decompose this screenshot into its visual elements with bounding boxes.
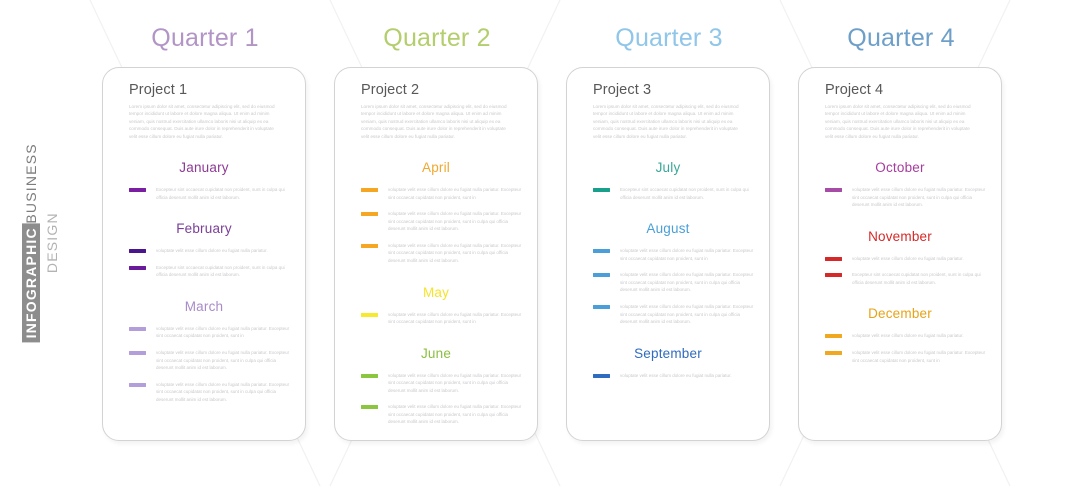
bullet-text: voluptate velit esse cillum dolore eu fu… — [388, 372, 525, 395]
bullet-text: voluptate velit esse cillum dolore eu fu… — [388, 242, 525, 265]
spacer — [361, 274, 525, 285]
month-list: Octobervoluptate velit esse cillum dolor… — [799, 140, 1001, 364]
bullet-text: voluptate velit esse cillum dolore eu fu… — [852, 349, 989, 364]
month-block-august: Augustvoluptate velit esse cillum dolore… — [593, 221, 757, 325]
bullet-dash-icon — [593, 249, 610, 253]
month-block-december: Decembervoluptate velit esse cillum dolo… — [825, 306, 989, 364]
quarter-column-1: Quarter 1Project 1Lorem ipsum dolor sit … — [102, 0, 308, 486]
bullet-text: Excepteur sint occaecat cupidatat non pr… — [156, 186, 293, 201]
month-block-november: Novembervoluptate velit esse cillum dolo… — [825, 229, 989, 287]
spacer — [593, 335, 757, 346]
month-block-october: Octobervoluptate velit esse cillum dolor… — [825, 160, 989, 209]
month-name-september: September — [593, 346, 757, 361]
bullet-text: voluptate velit esse cillum dolore eu fu… — [852, 186, 989, 209]
quarter-column-3: Quarter 3Project 3Lorem ipsum dolor sit … — [566, 0, 772, 486]
bullet-dash-icon — [129, 266, 146, 270]
bullet-row: voluptate velit esse cillum dolore eu fu… — [361, 210, 525, 233]
bullet-dash-icon — [825, 257, 842, 261]
bullet-dash-icon — [825, 273, 842, 277]
bullet-row: voluptate velit esse cillum dolore eu fu… — [129, 247, 293, 255]
bullet-text: voluptate velit esse cillum dolore eu fu… — [156, 247, 293, 255]
bullet-row: voluptate velit esse cillum dolore eu fu… — [361, 403, 525, 426]
bullet-row: voluptate velit esse cillum dolore eu fu… — [825, 186, 989, 209]
bullet-dash-icon — [361, 212, 378, 216]
bullet-row: voluptate velit esse cillum dolore eu fu… — [361, 242, 525, 265]
side-label-infographic: INFOGRAPHIC — [22, 224, 40, 343]
month-block-february: Februaryvoluptate velit esse cillum dolo… — [129, 221, 293, 279]
bullet-row: Excepteur sint occaecat cupidatat non pr… — [129, 186, 293, 201]
month-block-may: Mayvoluptate velit esse cillum dolore eu… — [361, 285, 525, 326]
quarter-title-3: Quarter 3 — [566, 24, 772, 53]
bullet-text: voluptate velit esse cillum dolore eu fu… — [156, 381, 293, 404]
bullet-row: voluptate velit esse cillum dolore eu fu… — [825, 332, 989, 340]
quarter-title-2: Quarter 2 — [334, 24, 540, 53]
bullet-dash-icon — [593, 273, 610, 277]
spacer — [825, 295, 989, 306]
month-block-june: Junevoluptate velit esse cillum dolore e… — [361, 346, 525, 426]
spacer — [129, 210, 293, 221]
project-card-1[interactable]: Project 1Lorem ipsum dolor sit amet, con… — [102, 67, 306, 441]
month-name-november: November — [825, 229, 989, 244]
month-block-april: Aprilvoluptate velit esse cillum dolore … — [361, 160, 525, 264]
month-name-march: March — [129, 299, 293, 314]
bullet-text: Excepteur sint occaecat cupidatat non pr… — [156, 264, 293, 279]
bullet-row: voluptate velit esse cillum dolore eu fu… — [593, 372, 757, 380]
month-name-june: June — [361, 346, 525, 361]
bullet-dash-icon — [361, 405, 378, 409]
month-name-august: August — [593, 221, 757, 236]
side-label-design: DESIGN — [44, 213, 60, 274]
project-card-4[interactable]: Project 4Lorem ipsum dolor sit amet, con… — [798, 67, 1002, 441]
month-list: Aprilvoluptate velit esse cillum dolore … — [335, 140, 537, 426]
month-name-january: January — [129, 160, 293, 175]
month-name-may: May — [361, 285, 525, 300]
bullet-dash-icon — [593, 305, 610, 309]
bullet-text: voluptate velit esse cillum dolore eu fu… — [620, 271, 757, 294]
month-name-february: February — [129, 221, 293, 236]
project-header: Project 3Lorem ipsum dolor sit amet, con… — [567, 68, 769, 140]
project-title-2: Project 2 — [361, 82, 521, 98]
spacer — [593, 140, 757, 160]
bullet-row: Excepteur sint occaecat cupidatat non pr… — [825, 271, 989, 286]
project-card-3[interactable]: Project 3Lorem ipsum dolor sit amet, con… — [566, 67, 770, 441]
bullet-row: voluptate velit esse cillum dolore eu fu… — [361, 311, 525, 326]
month-block-march: Marchvoluptate velit esse cillum dolore … — [129, 299, 293, 403]
bullet-dash-icon — [361, 188, 378, 192]
bullet-row: voluptate velit esse cillum dolore eu fu… — [593, 247, 757, 262]
month-name-october: October — [825, 160, 989, 175]
project-header: Project 1Lorem ipsum dolor sit amet, con… — [103, 68, 305, 140]
project-card-2[interactable]: Project 2Lorem ipsum dolor sit amet, con… — [334, 67, 538, 441]
bullet-dash-icon — [593, 188, 610, 192]
quarter-columns: Quarter 1Project 1Lorem ipsum dolor sit … — [102, 0, 1032, 486]
bullet-row: voluptate velit esse cillum dolore eu fu… — [593, 271, 757, 294]
bullet-row: voluptate velit esse cillum dolore eu fu… — [361, 372, 525, 395]
spacer — [361, 140, 525, 160]
bullet-row: voluptate velit esse cillum dolore eu fu… — [361, 186, 525, 201]
bullet-dash-icon — [361, 244, 378, 248]
bullet-text: voluptate velit esse cillum dolore eu fu… — [852, 255, 989, 263]
bullet-dash-icon — [825, 351, 842, 355]
bullet-text: voluptate velit esse cillum dolore eu fu… — [388, 311, 525, 326]
bullet-dash-icon — [361, 374, 378, 378]
bullet-row: Excepteur sint occaecat cupidatat non pr… — [129, 264, 293, 279]
spacer — [129, 140, 293, 160]
project-title-3: Project 3 — [593, 82, 753, 98]
bullet-text: voluptate velit esse cillum dolore eu fu… — [156, 325, 293, 340]
spacer — [825, 218, 989, 229]
quarter-column-2: Quarter 2Project 2Lorem ipsum dolor sit … — [334, 0, 540, 486]
side-label-business: BUSINESS — [23, 143, 39, 223]
spacer — [361, 335, 525, 346]
spacer — [593, 210, 757, 221]
month-name-december: December — [825, 306, 989, 321]
month-list: JanuaryExcepteur sint occaecat cupidatat… — [103, 140, 305, 403]
bullet-text: Excepteur sint occaecat cupidatat non pr… — [852, 271, 989, 286]
bullet-row: voluptate velit esse cillum dolore eu fu… — [129, 381, 293, 404]
month-name-july: July — [593, 160, 757, 175]
project-header: Project 4Lorem ipsum dolor sit amet, con… — [799, 68, 1001, 140]
bullet-text: voluptate velit esse cillum dolore eu fu… — [388, 403, 525, 426]
month-block-july: JulyExcepteur sint occaecat cupidatat no… — [593, 160, 757, 201]
bullet-row: voluptate velit esse cillum dolore eu fu… — [825, 349, 989, 364]
bullet-text: voluptate velit esse cillum dolore eu fu… — [388, 186, 525, 201]
bullet-text: voluptate velit esse cillum dolore eu fu… — [620, 247, 757, 262]
bullet-dash-icon — [129, 351, 146, 355]
bullet-row: voluptate velit esse cillum dolore eu fu… — [825, 255, 989, 263]
project-title-1: Project 1 — [129, 82, 289, 98]
bullet-dash-icon — [825, 188, 842, 192]
bullet-dash-icon — [129, 383, 146, 387]
bullet-dash-icon — [593, 374, 610, 378]
project-description: Lorem ipsum dolor sit amet, consectetur … — [593, 103, 745, 140]
bullet-text: voluptate velit esse cillum dolore eu fu… — [620, 303, 757, 326]
bullet-dash-icon — [361, 313, 378, 317]
bullet-text: voluptate velit esse cillum dolore eu fu… — [156, 349, 293, 372]
project-header: Project 2Lorem ipsum dolor sit amet, con… — [335, 68, 537, 140]
month-list: JulyExcepteur sint occaecat cupidatat no… — [567, 140, 769, 379]
side-label: BUSINESS INFOGRAPHIC DESIGN — [22, 0, 92, 486]
month-block-september: Septembervoluptate velit esse cillum dol… — [593, 346, 757, 380]
bullet-row: voluptate velit esse cillum dolore eu fu… — [593, 303, 757, 326]
bullet-dash-icon — [129, 188, 146, 192]
bullet-dash-icon — [825, 334, 842, 338]
project-title-4: Project 4 — [825, 82, 985, 98]
project-description: Lorem ipsum dolor sit amet, consectetur … — [361, 103, 513, 140]
quarter-column-4: Quarter 4Project 4Lorem ipsum dolor sit … — [798, 0, 1004, 486]
project-description: Lorem ipsum dolor sit amet, consectetur … — [129, 103, 281, 140]
bullet-text: voluptate velit esse cillum dolore eu fu… — [620, 372, 757, 380]
bullet-row: voluptate velit esse cillum dolore eu fu… — [129, 349, 293, 372]
bullet-row: Excepteur sint occaecat cupidatat non pr… — [593, 186, 757, 201]
bullet-dash-icon — [129, 249, 146, 253]
bullet-text: voluptate velit esse cillum dolore eu fu… — [852, 332, 989, 340]
project-description: Lorem ipsum dolor sit amet, consectetur … — [825, 103, 977, 140]
month-block-january: JanuaryExcepteur sint occaecat cupidatat… — [129, 160, 293, 201]
quarter-title-1: Quarter 1 — [102, 24, 308, 53]
quarter-title-4: Quarter 4 — [798, 24, 1004, 53]
bullet-text: voluptate velit esse cillum dolore eu fu… — [388, 210, 525, 233]
bullet-row: voluptate velit esse cillum dolore eu fu… — [129, 325, 293, 340]
spacer — [825, 140, 989, 160]
spacer — [129, 288, 293, 299]
bullet-text: Excepteur sint occaecat cupidatat non pr… — [620, 186, 757, 201]
bullet-dash-icon — [129, 327, 146, 331]
month-name-april: April — [361, 160, 525, 175]
